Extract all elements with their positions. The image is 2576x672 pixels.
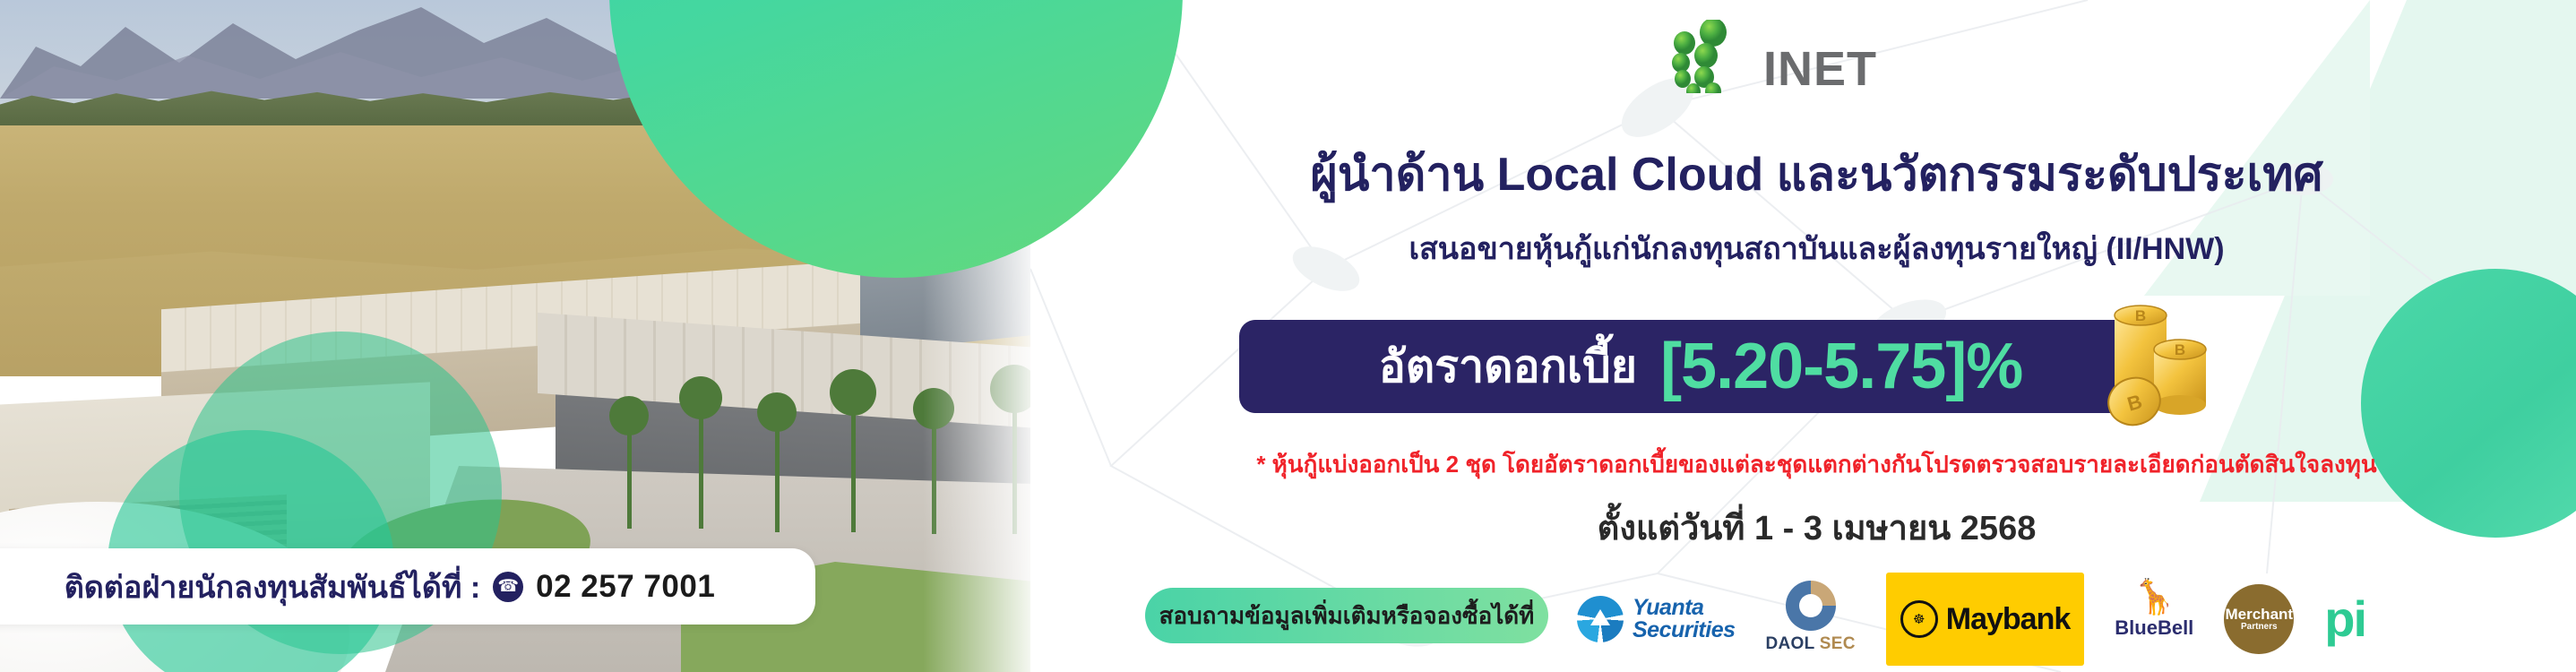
maybank-tiger-icon: ☸ — [1900, 600, 1938, 638]
inquire-subscribe-button[interactable]: สอบถามข้อมูลเพิ่มเติมหรือจองซื้อได้ที่ — [1145, 588, 1548, 643]
svg-text:B: B — [2135, 307, 2146, 324]
yuanta-line-2: Securities — [1633, 619, 1736, 642]
broker-logo-yuanta[interactable]: Yuanta Securities — [1577, 581, 1736, 658]
broker-logo-maybank[interactable]: ☸ Maybank — [1886, 573, 2085, 666]
contact-label: ติดต่อฝ่ายนักลงทุนสัมพันธ์ได้ที่ : — [65, 563, 480, 611]
page-subtitle: เสนอขายหุ้นกู้แก่นักลงทุนสถาบันและผู้ลงท… — [1057, 224, 2576, 272]
interest-rate-badge: อัตราดอกเบี้ย [5.20-5.75]% — [1239, 320, 2162, 413]
daol-line-1: DAOL — [1766, 634, 1815, 653]
inet-logo-text: INET — [1763, 41, 1877, 97]
bluebell-wordmark: BlueBell — [2115, 616, 2193, 640]
interest-rate-value: [5.20-5.75]% — [1660, 334, 2022, 399]
yuanta-wordmark: Yuanta Securities — [1633, 597, 1736, 642]
phone-icon: ☎ — [493, 572, 523, 602]
investor-relations-contact-card: ติดต่อฝ่ายนักลงทุนสัมพันธ์ได้ที่ : ☎ 02 … — [0, 548, 815, 625]
pi-wordmark-icon: pi — [2324, 594, 2365, 644]
broker-logo-merchant-partners[interactable]: Merchant Partners — [2224, 581, 2294, 658]
promo-banner: INET ผู้นำด้าน Local Cloud และนวัตกรรมระ… — [0, 0, 2576, 672]
svg-text:B: B — [2175, 341, 2185, 358]
bluebell-deer-icon: 🦒 — [2133, 581, 2175, 615]
broker-logo-daol[interactable]: DAOL SEC — [1766, 581, 1856, 658]
gold-coins-icon: B B B — [2088, 296, 2231, 430]
interest-rate-label: อัตราดอกเบี้ย — [1379, 332, 1637, 402]
page-title: ผู้นำด้าน Local Cloud และนวัตกรรมระดับปร… — [1057, 136, 2576, 211]
offering-date-text: ตั้งแต่วันที่ 1 - 3 เมษายน 2568 — [1057, 500, 2576, 555]
broker-logo-pi[interactable]: pi — [2324, 581, 2365, 658]
broker-logo-list: Yuanta Securities DAOL SEC ☸ Maybank 🦒 B… — [1577, 581, 2572, 658]
merchant-line-1: Merchant — [2226, 607, 2294, 623]
maybank-wordmark: Maybank — [1946, 602, 2071, 637]
yuanta-line-1: Yuanta — [1633, 597, 1736, 619]
cta-row: สอบถามข้อมูลเพิ่มเติมหรือจองซื้อได้ที่ Y… — [1057, 581, 2576, 658]
broker-logo-bluebell[interactable]: 🦒 BlueBell — [2115, 581, 2193, 658]
inet-logo[interactable]: INET — [1631, 20, 1980, 93]
daol-wordmark: DAOL SEC — [1766, 634, 1856, 654]
merchant-line-2: Partners — [2241, 622, 2278, 632]
merchant-partners-icon: Merchant Partners — [2224, 584, 2294, 654]
bond-disclaimer-text: * หุ้นกู้แบ่งออกเป็น 2 ชุด โดยอัตราดอกเบ… — [1057, 446, 2576, 483]
yuanta-star-icon — [1577, 596, 1624, 642]
banner-content: INET ผู้นำด้าน Local Cloud และนวัตกรรมระ… — [1057, 0, 2576, 672]
daol-line-2: SEC — [1820, 634, 1856, 653]
daol-circle-icon — [1786, 581, 1836, 631]
contact-phone-number[interactable]: 02 257 7001 — [536, 569, 715, 605]
